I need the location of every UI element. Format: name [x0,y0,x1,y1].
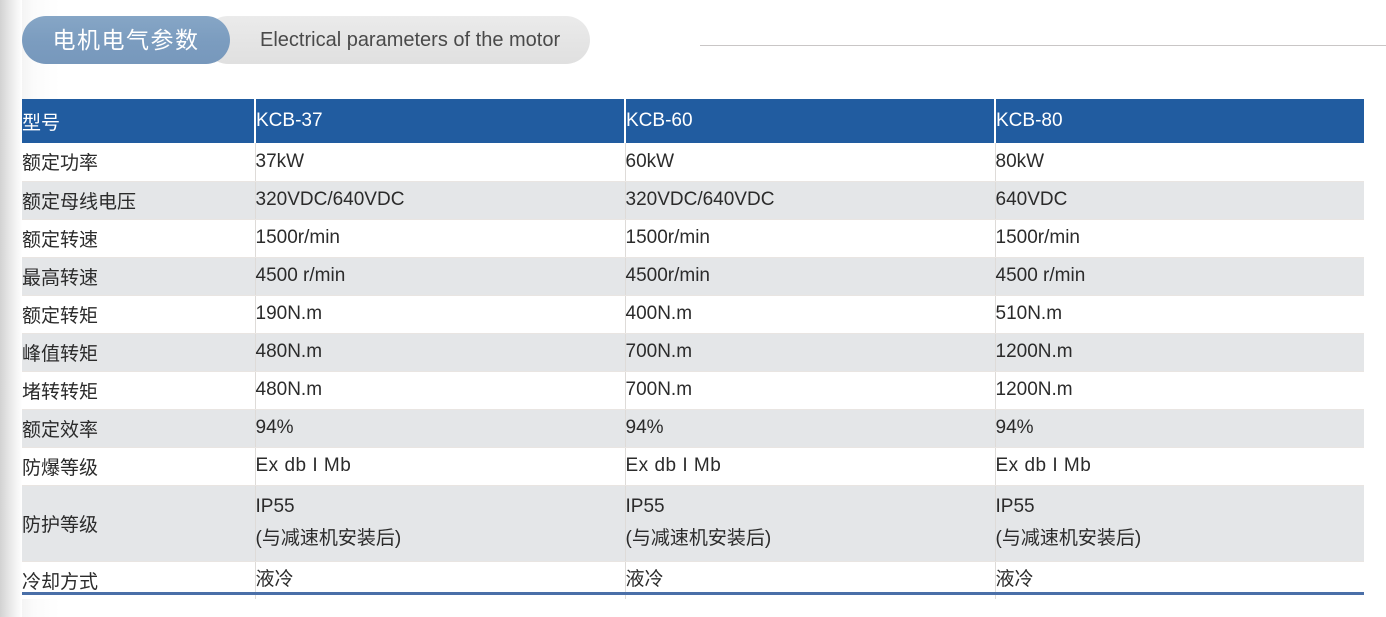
column-header-model-2: KCB-60 [625,99,995,143]
value-line: Ex db I Mb [996,455,1365,477]
value-line: 1500r/min [256,227,625,249]
section-title-cn-pill: 电机电气参数 [22,16,230,64]
section-header: 电机电气参数 Electrical parameters of the moto… [0,0,1386,82]
value-line: Ex db I Mb [626,455,995,477]
table-row: 堵转转矩480N.m700N.m1200N.m [22,371,1364,409]
value-line: 640VDC [996,189,1365,211]
value-line: 480N.m [256,379,625,401]
row-value-col-1: IP55(与减速机安装后) [255,485,625,561]
row-label: 最高转速 [22,257,255,295]
row-value-col-3: IP55(与减速机安装后) [995,485,1364,561]
column-header-parameter: 型号 [22,99,255,143]
value-line: 94% [626,417,995,439]
row-value-col-3: 640VDC [995,181,1364,219]
value-line: 320VDC/640VDC [256,189,625,211]
row-label: 额定母线电压 [22,181,255,219]
row-label: 额定转矩 [22,295,255,333]
row-value-col-1: 480N.m [255,333,625,371]
row-value-col-2: 94% [625,409,995,447]
row-value-col-2: 320VDC/640VDC [625,181,995,219]
table-bottom-rule [22,592,1364,595]
row-value-col-1: 190N.m [255,295,625,333]
row-value-col-1: 320VDC/640VDC [255,181,625,219]
value-line: 1500r/min [996,227,1365,249]
row-value-col-3: 1200N.m [995,371,1364,409]
row-value-col-1: 4500 r/min [255,257,625,295]
value-line: 液冷 [256,569,625,591]
row-label: 防护等级 [22,485,255,561]
value-line: 700N.m [626,379,995,401]
row-label: 额定效率 [22,409,255,447]
value-line: 94% [256,417,625,439]
value-line: IP55 [626,496,995,518]
value-line: (与减速机安装后) [996,528,1365,550]
table-row: 额定母线电压320VDC/640VDC320VDC/640VDC640VDC [22,181,1364,219]
row-value-col-3: 1200N.m [995,333,1364,371]
row-value-col-1: 37kW [255,143,625,181]
motor-electrical-parameters-table: 型号 KCB-37 KCB-60 KCB-80 额定功率37kW60kW80kW… [22,99,1364,599]
row-value-col-2: 60kW [625,143,995,181]
section-title-cn-label: 电机电气参数 [53,29,200,52]
header-divider-rule [700,45,1386,46]
section-title-en-pill: Electrical parameters of the motor [204,16,590,64]
section-title-pills: 电机电气参数 Electrical parameters of the moto… [22,16,590,64]
row-value-col-1: 94% [255,409,625,447]
row-label: 峰值转矩 [22,333,255,371]
row-value-col-3: 510N.m [995,295,1364,333]
row-value-col-2: 400N.m [625,295,995,333]
row-value-col-3: 94% [995,409,1364,447]
table-header-row: 型号 KCB-37 KCB-60 KCB-80 [22,99,1364,143]
table-row: 额定功率37kW60kW80kW [22,143,1364,181]
value-line: 液冷 [996,569,1365,591]
value-line: 480N.m [256,341,625,363]
value-line: Ex db I Mb [256,455,625,477]
value-line: 60kW [626,151,995,173]
row-value-col-2: 1500r/min [625,219,995,257]
value-line: 400N.m [626,303,995,325]
value-line: IP55 [256,496,625,518]
table-row: 防护等级IP55(与减速机安装后)IP55(与减速机安装后)IP55(与减速机安… [22,485,1364,561]
table-body: 额定功率37kW60kW80kW额定母线电压320VDC/640VDC320VD… [22,143,1364,599]
table-row: 额定转速1500r/min1500r/min1500r/min [22,219,1364,257]
value-line: 510N.m [996,303,1365,325]
value-line: 液冷 [626,569,995,591]
row-value-col-1: 1500r/min [255,219,625,257]
table-head: 型号 KCB-37 KCB-60 KCB-80 [22,99,1364,143]
value-line: 37kW [256,151,625,173]
table-row: 额定效率94%94%94% [22,409,1364,447]
value-line: 4500r/min [626,265,995,287]
row-value-col-3: 80kW [995,143,1364,181]
row-value-col-3: 1500r/min [995,219,1364,257]
row-label: 防爆等级 [22,447,255,485]
section-title-en-label: Electrical parameters of the motor [260,30,560,50]
column-header-model-3: KCB-80 [995,99,1364,143]
row-value-col-1: 480N.m [255,371,625,409]
value-line: 80kW [996,151,1365,173]
value-line: 94% [996,417,1365,439]
value-line: 1500r/min [626,227,995,249]
value-line: 190N.m [256,303,625,325]
row-label: 额定功率 [22,143,255,181]
value-line: 4500 r/min [996,265,1365,287]
spec-sheet-page: 电机电气参数 Electrical parameters of the moto… [0,0,1386,617]
row-value-col-2: Ex db I Mb [625,447,995,485]
value-line: IP55 [996,496,1365,518]
row-value-col-3: Ex db I Mb [995,447,1364,485]
value-line: 700N.m [626,341,995,363]
value-line: (与减速机安装后) [256,528,625,550]
table-row: 峰值转矩480N.m700N.m1200N.m [22,333,1364,371]
table-row: 额定转矩190N.m400N.m510N.m [22,295,1364,333]
row-value-col-2: 4500r/min [625,257,995,295]
value-line: 320VDC/640VDC [626,189,995,211]
row-label: 额定转速 [22,219,255,257]
page-left-fold-shading [0,0,22,617]
column-header-model-1: KCB-37 [255,99,625,143]
table-row: 最高转速4500 r/min4500r/min4500 r/min [22,257,1364,295]
row-value-col-1: Ex db I Mb [255,447,625,485]
value-line: 1200N.m [996,341,1365,363]
row-value-col-3: 4500 r/min [995,257,1364,295]
row-value-col-2: 700N.m [625,333,995,371]
table-row: 防爆等级Ex db I MbEx db I MbEx db I Mb [22,447,1364,485]
value-line: 1200N.m [996,379,1365,401]
row-value-col-2: IP55(与减速机安装后) [625,485,995,561]
row-value-col-2: 700N.m [625,371,995,409]
value-line: 4500 r/min [256,265,625,287]
row-label: 堵转转矩 [22,371,255,409]
value-line: (与减速机安装后) [626,528,995,550]
